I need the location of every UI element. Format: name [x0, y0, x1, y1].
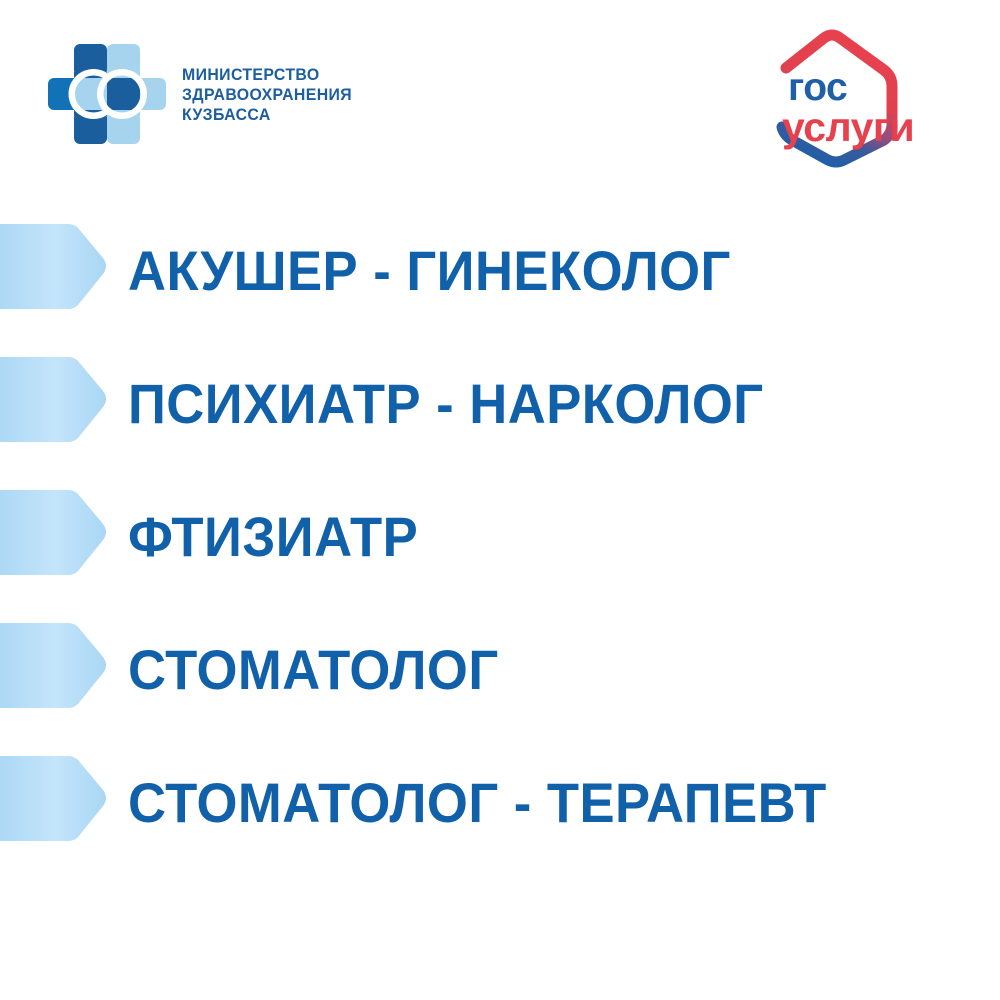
speciality-row[interactable]: ФТИЗИАТР [0, 470, 1000, 603]
gosuslugi-logo: гос услуги [752, 28, 924, 168]
ministry-wordmark-line-3: КУЗБАССА [182, 105, 352, 125]
arrow-bullet-icon [0, 621, 110, 710]
speciality-row[interactable]: ПСИХИАТР - НАРКОЛОГ [0, 337, 1000, 470]
speciality-row[interactable]: АКУШЕР - ГИНЕКОЛОГ [0, 204, 1000, 337]
speciality-label: СТОМАТОЛОГ [128, 642, 499, 698]
header: МИНИСТЕРСТВО ЗДРАВООХРАНЕНИЯ КУЗБАССА го… [0, 0, 1000, 195]
ministry-wordmark: МИНИСТЕРСТВО ЗДРАВООХРАНЕНИЯ КУЗБАССА [182, 63, 359, 125]
gosuslugi-text-bottom: услуги [782, 104, 914, 150]
speciality-list: АКУШЕР - ГИНЕКОЛОГ ПСИХИАТР - НАРКОЛОГ Ф… [0, 204, 1000, 869]
ministry-cross-mark-icon [46, 42, 168, 146]
ministry-wordmark-line-1: МИНИСТЕРСТВО [182, 65, 352, 85]
speciality-label: АКУШЕР - ГИНЕКОЛОГ [128, 243, 731, 299]
arrow-bullet-icon [0, 754, 110, 843]
arrow-bullet-icon [0, 355, 110, 444]
speciality-label: ФТИЗИАТР [128, 509, 418, 565]
ministry-logo: МИНИСТЕРСТВО ЗДРАВООХРАНЕНИЯ КУЗБАССА [46, 42, 359, 146]
speciality-label: СТОМАТОЛОГ - ТЕРАПЕВТ [128, 775, 827, 831]
speciality-label: ПСИХИАТР - НАРКОЛОГ [128, 376, 764, 432]
gosuslugi-text-top: гос [788, 66, 847, 109]
speciality-row[interactable]: СТОМАТОЛОГ [0, 603, 1000, 736]
ministry-wordmark-line-2: ЗДРАВООХРАНЕНИЯ [182, 85, 352, 105]
arrow-bullet-icon [0, 222, 110, 311]
arrow-bullet-icon [0, 488, 110, 577]
speciality-row[interactable]: СТОМАТОЛОГ - ТЕРАПЕВТ [0, 736, 1000, 869]
